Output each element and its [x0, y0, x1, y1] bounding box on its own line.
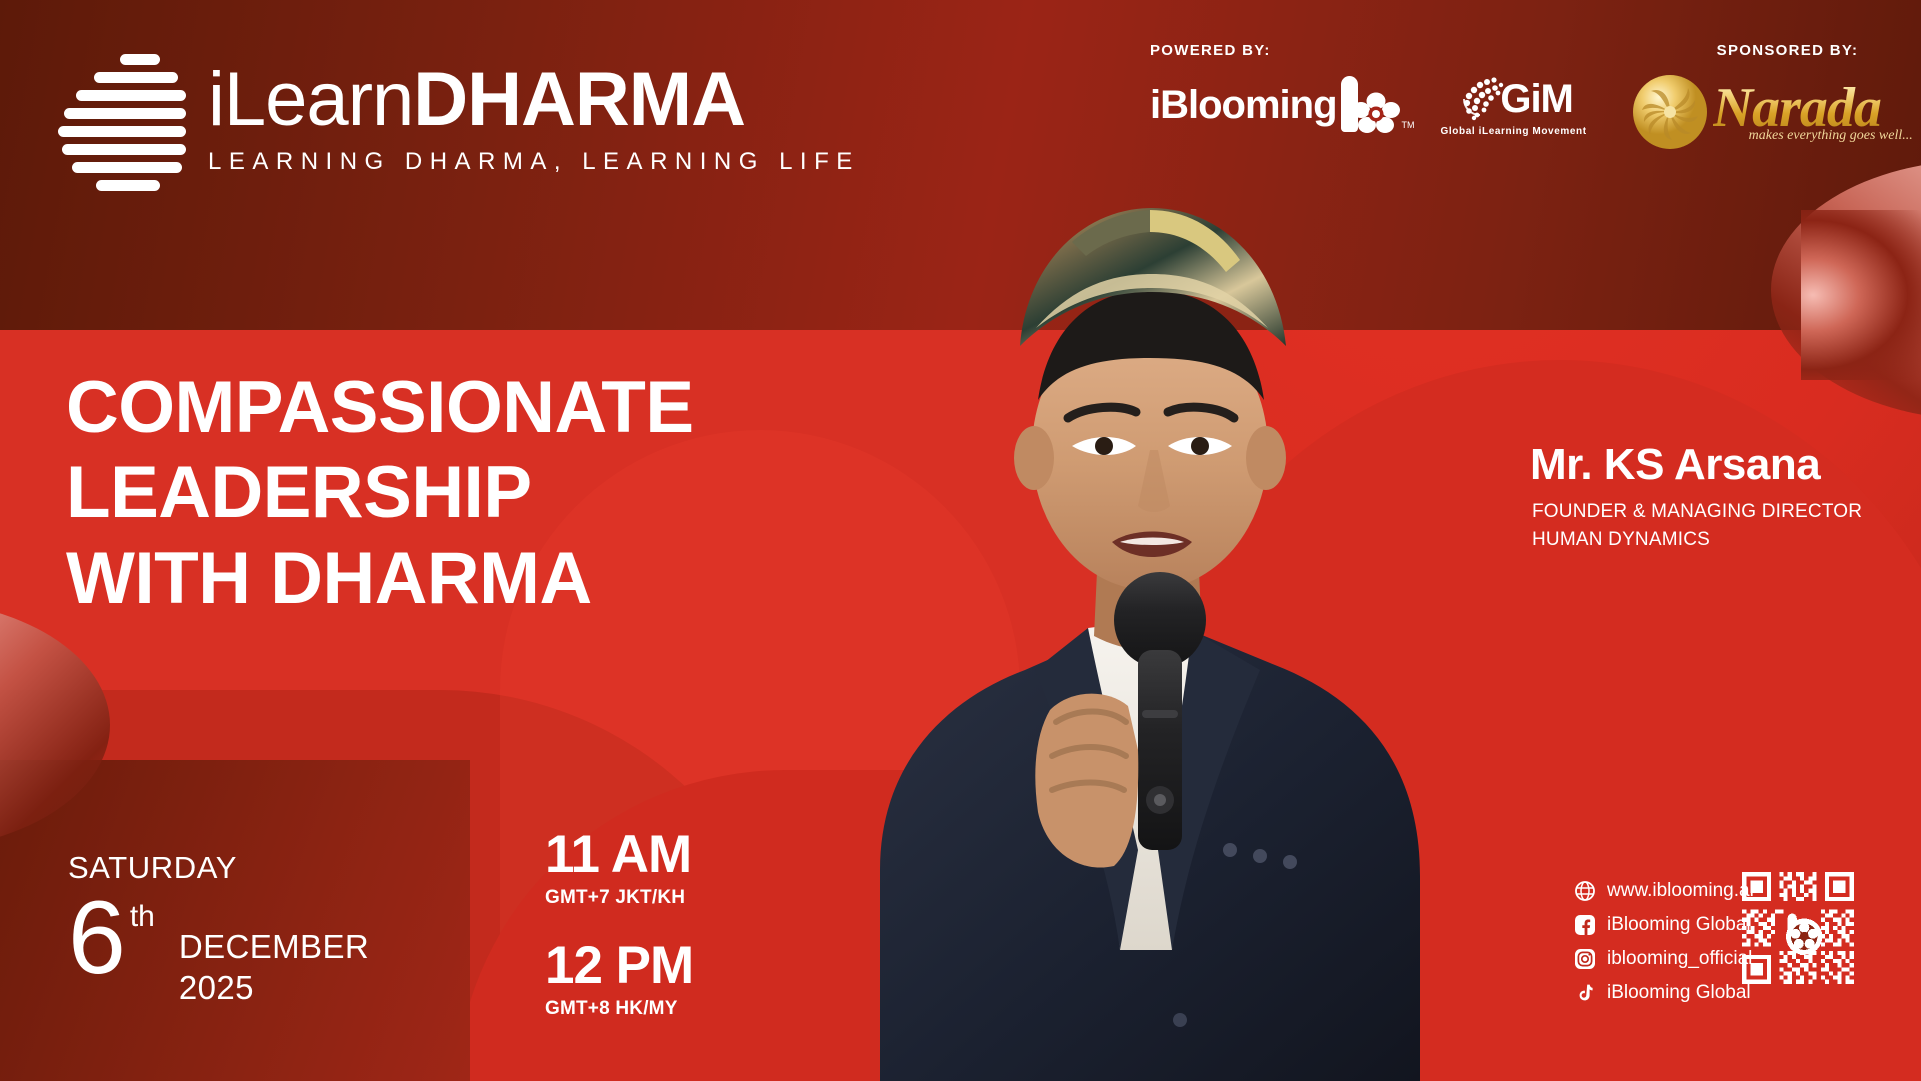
speaker-role: FOUNDER & MANAGING DIRECTOR HUMAN DYNAMI… [1532, 498, 1862, 553]
golden-pinwheel-flower-icon [1631, 73, 1709, 151]
brand-title-bold: DHARMA [413, 57, 745, 142]
decorative-swoosh-right-inner [1801, 210, 1921, 380]
speaker-photo [820, 150, 1440, 1081]
iblooming-wordmark: iBlooming [1150, 83, 1337, 128]
trademark-mark: TM [1402, 120, 1415, 130]
iblooming-logo: iBlooming [1150, 76, 1415, 134]
headline-line-3: WITH DHARMA [66, 536, 694, 621]
event-timezone-1: GMT+7 JKT/KH [545, 887, 693, 909]
headline-line-2: LEADERSHIP [66, 450, 694, 535]
page-title: COMPASSIONATE LEADERSHIP WITH DHARMA [66, 365, 694, 621]
sponsored-by-label: SPONSORED BY: [1717, 42, 1913, 59]
gim-subtitle: Global iLearning Movement [1441, 126, 1587, 137]
social-link-facebook[interactable]: iBlooming Global [1575, 914, 1754, 936]
social-label-website: www.iblooming.ai [1607, 880, 1754, 902]
gim-logo: GiM Global iLearning Movement [1441, 73, 1587, 137]
event-day-number: 6 [68, 892, 124, 986]
social-link-tiktok[interactable]: iBlooming Global [1575, 982, 1754, 1004]
brand-title-thin: iLearn [208, 57, 413, 142]
powered-by-group: POWERED BY: iBlooming [1150, 42, 1587, 137]
event-timezone-2: GMT+8 HK/MY [545, 998, 693, 1020]
social-link-instagram[interactable]: iblooming_official [1575, 948, 1754, 970]
brand-logo: iLearnDHARMA LEARNING DHARMA, LEARNING L… [58, 52, 860, 184]
brand-tagline: LEARNING DHARMA, LEARNING LIFE [208, 148, 860, 176]
globe-dots-icon [1454, 73, 1506, 125]
partner-logos: POWERED BY: iBlooming [1150, 42, 1913, 151]
powered-by-label: POWERED BY: [1150, 42, 1587, 59]
sponsored-by-group: SPONSORED BY: [1631, 42, 1913, 151]
facebook-icon [1575, 915, 1595, 935]
speaker-role-line-2: HUMAN DYNAMICS [1532, 526, 1862, 554]
event-date: SATURDAY 6 th DECEMBER 2025 [68, 850, 369, 1009]
ilearn-bars-logo-icon [58, 52, 186, 184]
narada-tagline: makes everything goes well... [1749, 128, 1913, 144]
speaker-name: Mr. KS Arsana [1530, 440, 1820, 490]
globe-icon [1575, 881, 1595, 901]
event-times: 11 AM GMT+7 JKT/KH 12 PM GMT+8 HK/MY [545, 828, 693, 1020]
event-day-ordinal: th [130, 900, 155, 934]
event-month: DECEMBER [179, 926, 369, 967]
social-links: www.iblooming.ai iBlooming Global ibloom… [1575, 880, 1754, 1004]
event-time-2: 12 PM [545, 939, 693, 992]
tiktok-icon [1575, 983, 1595, 1003]
qr-code-iblooming[interactable] [1738, 868, 1858, 988]
social-label-tiktok: iBlooming Global [1607, 982, 1751, 1004]
event-year: 2025 [179, 967, 369, 1008]
flower-b-icon [1339, 76, 1401, 134]
event-time-1: 11 AM [545, 828, 693, 881]
social-link-website[interactable]: www.iblooming.ai [1575, 880, 1754, 902]
narada-logo: Narada makes everything goes well... [1631, 73, 1913, 151]
event-banner: iLearnDHARMA LEARNING DHARMA, LEARNING L… [0, 0, 1921, 1081]
speaker-role-line-1: FOUNDER & MANAGING DIRECTOR [1532, 498, 1862, 526]
social-label-facebook: iBlooming Global [1607, 914, 1751, 936]
brand-title: iLearnDHARMA [208, 64, 860, 136]
gim-wordmark: GiM [1500, 77, 1573, 122]
headline-line-1: COMPASSIONATE [66, 365, 694, 450]
instagram-icon [1575, 949, 1595, 969]
social-label-instagram: iblooming_official [1607, 948, 1752, 970]
